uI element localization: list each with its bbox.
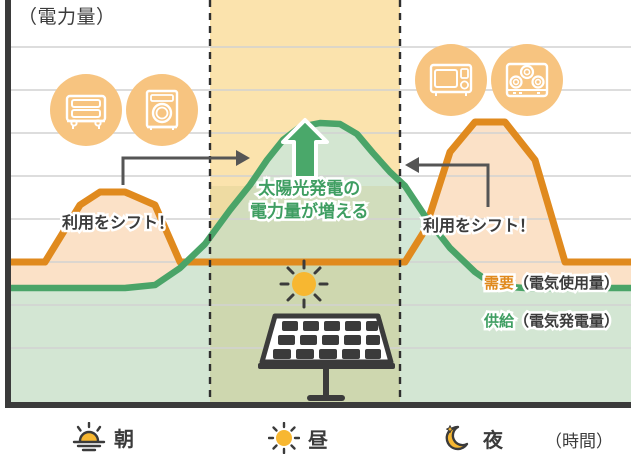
time-label-morning: 朝 [72,422,134,452]
x-axis-unit-label: （時間） [545,427,613,452]
time-label-noon-text: 昼 [308,424,328,453]
legend-demand-key: 需要 [484,274,514,292]
solar-increase-callout: 太陽光発電の 太陽光発電の 電力量が増える 電力量が増える [250,178,369,224]
shift-label-right: 利用をシフト！ 利用をシフト！ [423,212,535,236]
legend-supply-paren: （電気発電量） [514,312,619,330]
time-label-morning-text: 朝 [114,423,134,452]
callout-line-2-text: 電力量が増える [250,202,369,222]
legend-demand-paren: （電気使用量） [514,274,619,292]
callout-line-1-text: 太陽光発電の [258,179,360,199]
bubble-toaster-oven [50,74,122,146]
shift-label-left-text: 利用をシフト！ [62,213,174,232]
washing-machine-icon [144,88,180,132]
time-axis-row: 朝 昼 夜 [0,408,631,462]
shift-label-left: 利用をシフト！ 利用をシフト！ [62,209,174,233]
callout-line-1: 太陽光発電の 太陽光発電の [250,178,369,201]
time-label-night: 夜 [443,422,503,454]
moon-icon [443,422,475,454]
bubble-washing-machine [126,74,198,146]
time-label-noon: 昼 [268,422,328,454]
callout-line-2: 電力量が増える 電力量が増える [250,201,369,224]
stove-icon [504,61,550,99]
chart-root: （電力量） [0,0,631,462]
shift-label-right-text: 利用をシフト！ [423,216,535,235]
time-label-night-text: 夜 [483,424,503,453]
y-axis-title: （電力量） [18,2,116,29]
legend-item-demand: 需要 需要 （電気使用量） （電気使用量） [484,272,619,293]
legend-supply-key: 供給 [484,312,514,330]
sun-icon [268,422,300,454]
toaster-oven-icon [64,90,108,130]
bubble-microwave [415,44,487,116]
y-axis [5,0,11,408]
legend-item-supply: 供給 供給 （電気発電量） （電気発電量） [484,310,619,331]
sunrise-icon [72,422,106,452]
microwave-icon [428,62,474,98]
bubble-stove [491,44,563,116]
